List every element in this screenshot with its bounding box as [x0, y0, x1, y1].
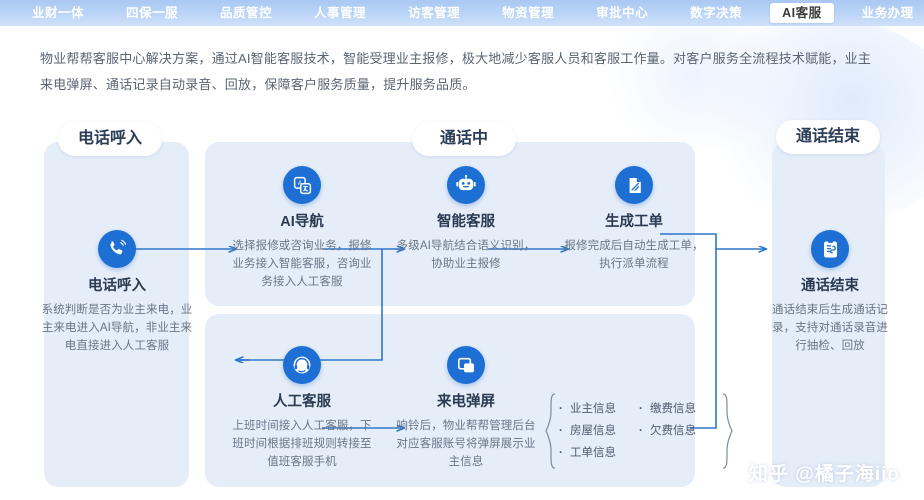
- call-record-icon: [811, 230, 849, 268]
- stage-pill-ended: 通话结束: [776, 120, 880, 154]
- node-generate-work-order[interactable]: 生成工单 报修完成后自动生成工单，执行派单流程: [560, 166, 708, 273]
- nav-item-pinzhiguankong[interactable]: 品质管控: [206, 0, 286, 26]
- node-generate-work-order-title: 生成工单: [560, 212, 708, 232]
- node-call-ended[interactable]: 通话结束 通话结束后生成通话记录，支持对通话录音进行抽检、回放: [768, 230, 892, 355]
- nav-item-renshiguanli[interactable]: 人事管理: [300, 0, 380, 26]
- popup-info-group: 业主信息 房屋信息 工单信息 缴费信息 欠费信息: [545, 390, 733, 472]
- headset-agent-icon: [283, 346, 321, 384]
- brace-left-icon: [545, 393, 556, 469]
- watermark: 知乎 @橘子海iio: [749, 459, 900, 486]
- stage-pill-incall: 通话中: [412, 122, 516, 156]
- node-human-agent-title: 人工客服: [228, 392, 376, 412]
- node-incoming-call-desc: 系统判断是否为业主来电，业主来电进入AI导航，非业主来电直接进入人工客服: [38, 301, 196, 355]
- nav-item-fangkeguanli[interactable]: 访客管理: [394, 0, 474, 26]
- node-intelligent-service-title: 智能客服: [396, 212, 536, 232]
- node-intelligent-service[interactable]: 智能客服 多级AI导航结合语义识别，协助业主报修: [396, 166, 536, 273]
- info-item-owner: 业主信息: [559, 398, 639, 420]
- ai-navigation-icon: A: [283, 166, 321, 204]
- node-incoming-call[interactable]: 电话呼入 系统判断是否为业主来电，业主来电进入AI导航，非业主来电直接进入人工客…: [38, 230, 196, 355]
- nav-item-sibaoyifu[interactable]: 四保一服: [112, 0, 192, 26]
- top-navigation-bar: 业财一体 四保一服 品质管控 人事管理 访客管理 物资管理 审批中心 数字决策 …: [0, 0, 924, 26]
- node-screen-popup-title: 来电弹屏: [396, 392, 536, 412]
- node-incoming-call-title: 电话呼入: [38, 276, 196, 296]
- node-call-ended-desc: 通话结束后生成通话记录，支持对通话录音进行抽检、回放: [768, 301, 892, 355]
- node-ai-navigation[interactable]: A AI导航 选择报修或咨询业务，报修业务接入智能客服，咨询业务接入人工客服: [228, 166, 376, 291]
- stage-pill-incoming: 电话呼入: [58, 122, 162, 156]
- node-call-ended-title: 通话结束: [768, 276, 892, 296]
- brace-right-icon: [722, 393, 733, 469]
- info-item-arrears: 欠费信息: [639, 420, 719, 442]
- work-order-icon: [615, 166, 653, 204]
- phone-call-icon: [98, 230, 136, 268]
- nav-item-wuziguanli[interactable]: 物资管理: [488, 0, 568, 26]
- info-item-payment: 缴费信息: [639, 398, 719, 420]
- node-ai-navigation-title: AI导航: [228, 212, 376, 232]
- robot-icon: [447, 166, 485, 204]
- info-item-work-order: 工单信息: [559, 442, 639, 464]
- nav-item-shuzijuece[interactable]: 数字决策: [676, 0, 756, 26]
- nav-item-yecaiyiti[interactable]: 业财一体: [18, 0, 98, 26]
- intro-paragraph: 物业帮帮客服中心解决方案，通过AI智能客服技术，智能受理业主报修，极大地减少客服…: [40, 46, 884, 98]
- flow-diagram: 电话呼入 通话中 通话结束 电话呼入 系统判断是否为业主来电，业主来电进入AI导…: [0, 128, 924, 500]
- nav-item-yewubanli[interactable]: 业务办理: [848, 0, 924, 26]
- node-screen-popup-desc: 响铃后，物业帮帮管理后台对应客服账号将弹屏展示业主信息: [396, 417, 536, 471]
- node-intelligent-service-desc: 多级AI导航结合语义识别，协助业主报修: [396, 237, 536, 273]
- node-human-agent-desc: 上班时间接入人工客服，下班时间根据排班规则转接至值班客服手机: [228, 417, 376, 471]
- node-ai-navigation-desc: 选择报修或咨询业务，报修业务接入智能客服，咨询业务接入人工客服: [228, 237, 376, 291]
- node-human-agent[interactable]: 人工客服 上班时间接入人工客服，下班时间根据排班规则转接至值班客服手机: [228, 346, 376, 471]
- screen-popup-icon: [447, 346, 485, 384]
- nav-item-ai-kefu[interactable]: AI客服: [770, 3, 834, 23]
- info-item-house: 房屋信息: [559, 420, 639, 442]
- node-generate-work-order-desc: 报修完成后自动生成工单，执行派单流程: [560, 237, 708, 273]
- popup-info-column-right: 缴费信息 欠费信息: [639, 398, 719, 464]
- popup-info-column-left: 业主信息 房屋信息 工单信息: [559, 398, 639, 464]
- node-screen-popup[interactable]: 来电弹屏 响铃后，物业帮帮管理后台对应客服账号将弹屏展示业主信息: [396, 346, 536, 471]
- nav-item-shenpizhongxin[interactable]: 审批中心: [582, 0, 662, 26]
